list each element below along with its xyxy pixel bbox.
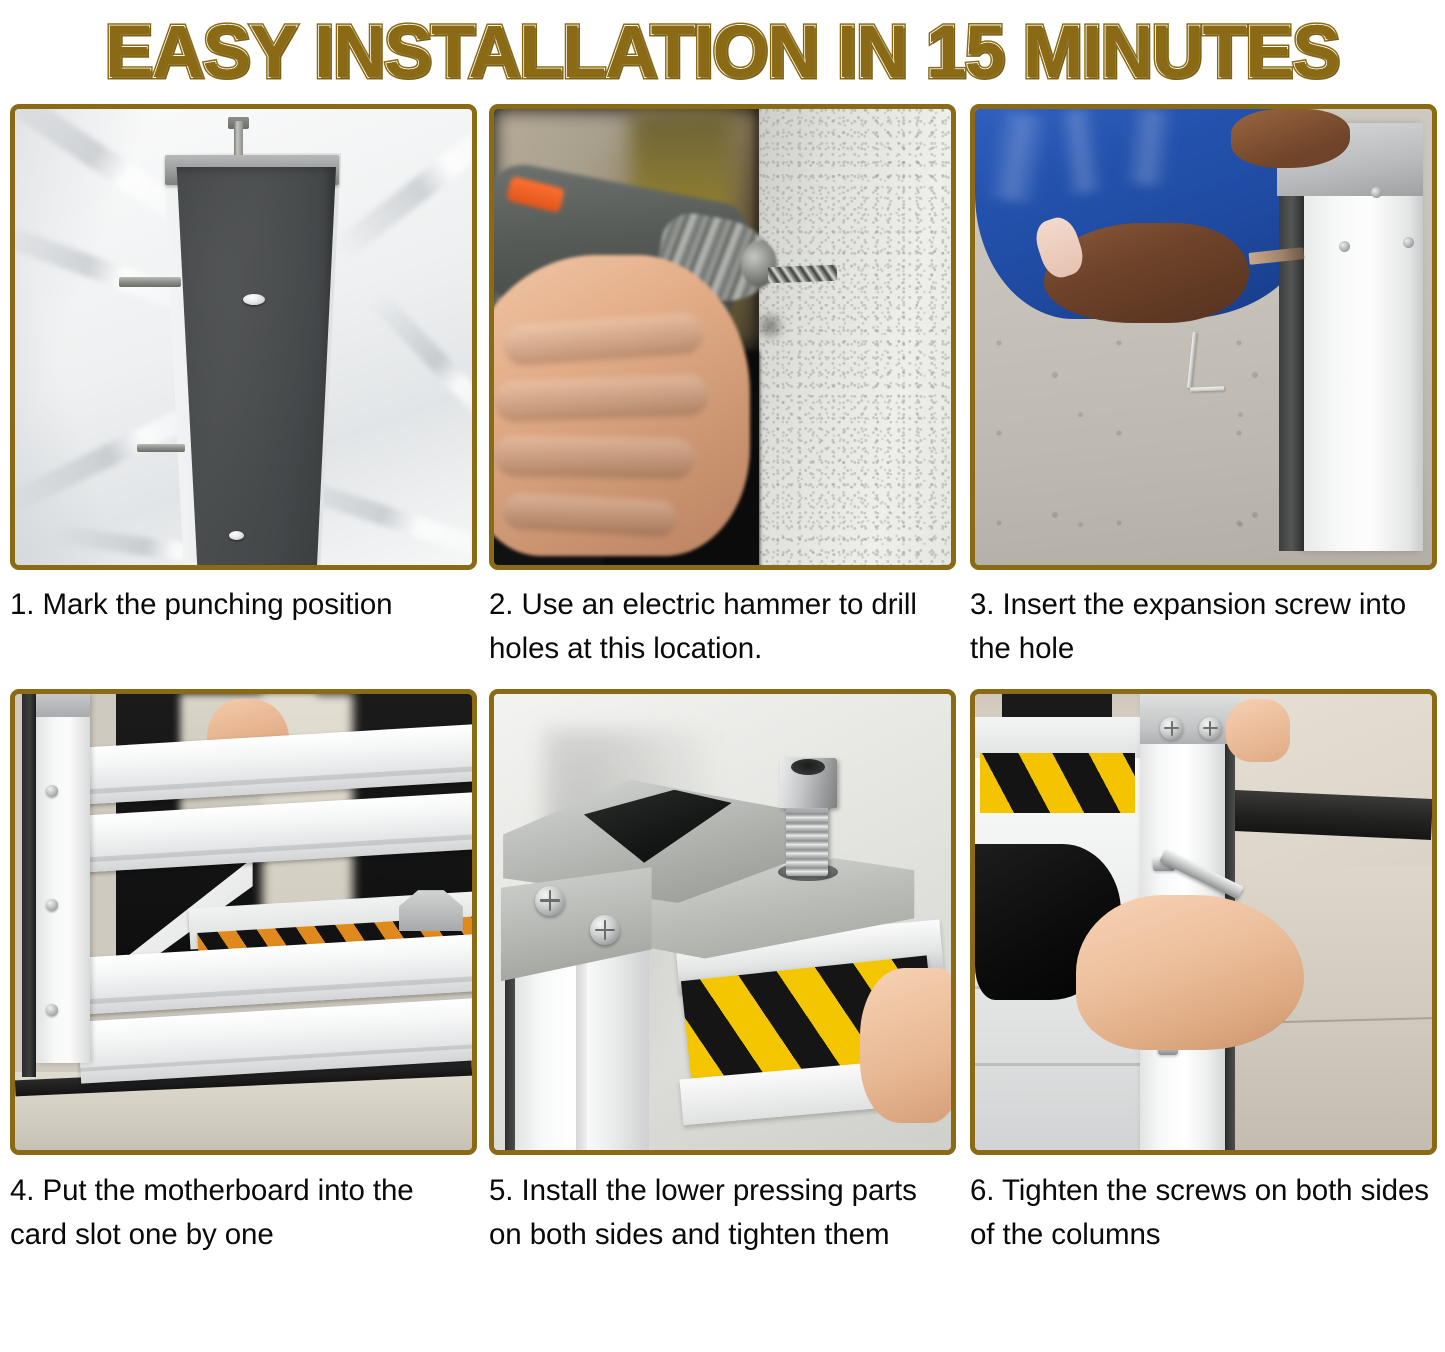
bracket-face-plate [170,167,336,565]
finger [494,436,695,481]
step-card-2: 2. Use an electric hammer to drill holes… [481,104,962,671]
column-screw [1339,241,1350,252]
page-title: EASY INSTALLATION IN 15 MINUTES EASY INS… [105,13,1339,91]
shirt-fold [985,110,1051,205]
wall-surface [759,109,951,565]
board-seam [975,1063,1149,1066]
mounting-hole [243,294,265,305]
threaded-bolt-shaft [786,799,827,877]
column-top-bracket [1140,694,1241,744]
shirt-fold [1056,109,1105,195]
steps-row-bottom: 4. Put the motherboard into the card slo… [0,689,1445,1257]
mounting-hole [229,531,244,540]
step-card-4: 4. Put the motherboard into the card slo… [0,689,481,1257]
column-top-bracket [36,694,91,717]
thumb [1226,699,1290,763]
hand [1076,895,1305,1050]
philips-screw-icon [535,886,565,916]
philips-screw-icon [590,915,620,945]
finger [860,968,951,1123]
alignment-pin [119,277,181,287]
white-column-post [36,694,91,1063]
column-channel-groove [22,694,37,1077]
step-caption-5: 5. Install the lower pressing parts on b… [489,1169,949,1257]
insert-expansion-screw-photo [970,104,1437,570]
step-card-3: 3. Insert the expansion screw into the h… [962,104,1443,671]
insert-boards-photo [10,689,477,1155]
install-pressing-parts-photo [489,689,956,1155]
philips-screw-icon [1199,717,1222,740]
step-caption-1: 1. Mark the punching position [10,583,470,627]
philips-screw-icon [1160,717,1183,740]
step-caption-2: 2. Use an electric hammer to drill holes… [489,583,949,671]
step-card-5: 5. Install the lower pressing parts on b… [481,689,962,1257]
header-banner: EASY INSTALLATION IN 15 MINUTES EASY INS… [0,0,1445,104]
step-caption-4: 4. Put the motherboard into the card slo… [10,1169,470,1257]
step-card-6: 6. Tighten the screws on both sides of t… [962,689,1443,1257]
drilling-dust [754,310,786,342]
page-title-fill: EASY INSTALLATION IN 15 MINUTES [105,13,1339,91]
step-card-1: 1. Mark the punching position [0,104,481,671]
alignment-pin [137,444,185,452]
barrier-board [975,717,1140,758]
step-caption-6: 6. Tighten the screws on both sides of t… [970,1169,1430,1257]
dark-gap [1002,694,1112,717]
drill-holes-photo [489,104,956,570]
steps-row-top: 1. Mark the punching position [0,104,1445,671]
tighten-column-screws-photo [970,689,1437,1155]
hazard-stripe-band [980,753,1135,812]
column-screw [1371,187,1382,198]
finger [494,374,709,423]
step-caption-3: 3. Insert the expansion screw into the h… [970,583,1430,671]
hand [1231,109,1350,168]
mark-punching-position-photo [10,104,477,570]
wall-texture [759,109,951,565]
drill-bit-icon [768,265,837,284]
column-screw [1403,237,1414,248]
steps-grid: 1. Mark the punching position [0,104,1445,1257]
shirt-fold [1123,109,1177,187]
